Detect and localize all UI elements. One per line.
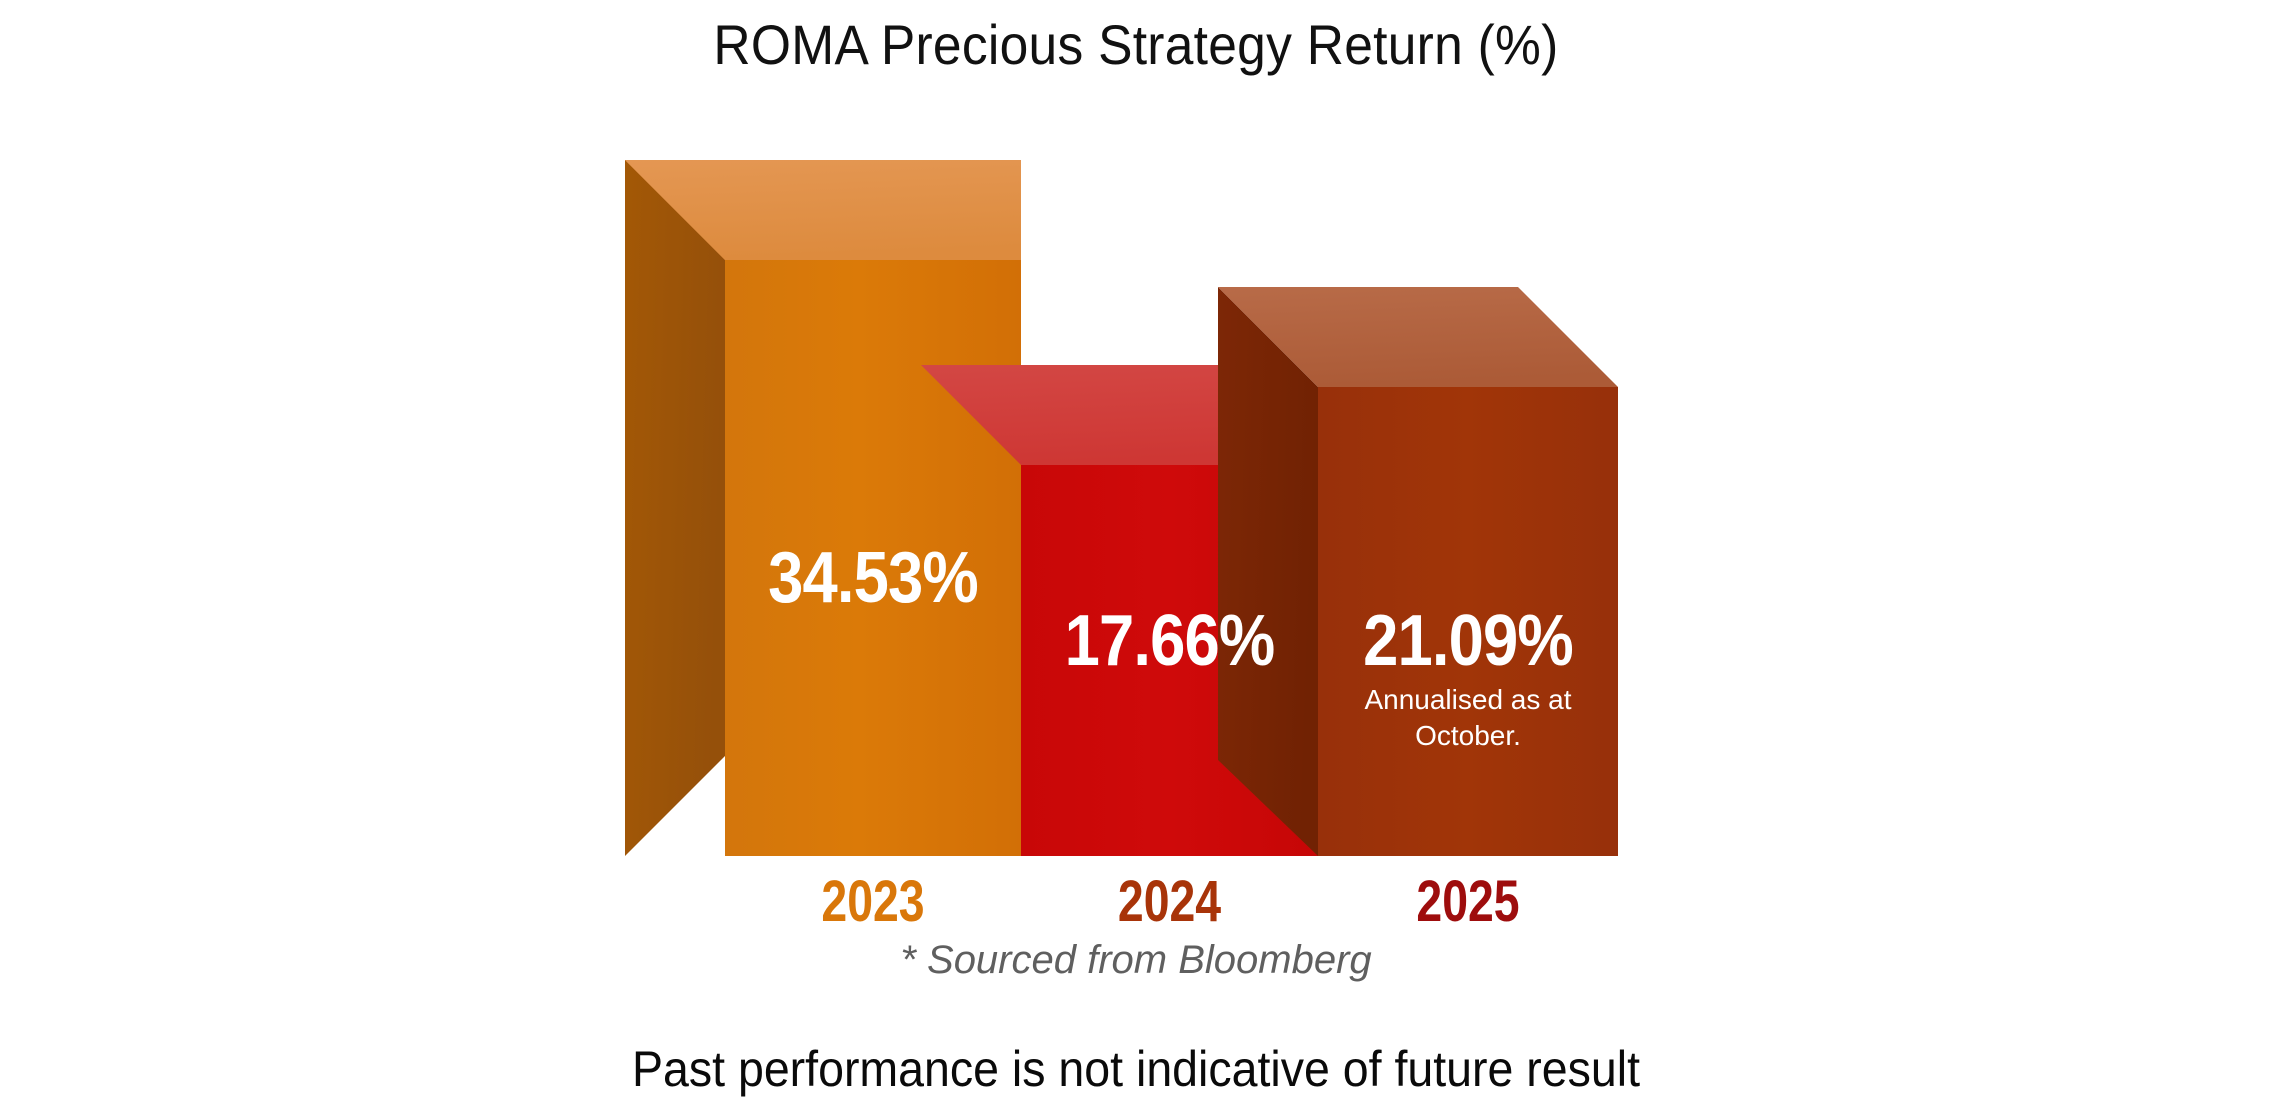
source-note: * Sourced from Bloomberg	[0, 938, 2272, 983]
bar-2025[interactable]	[1218, 287, 1618, 856]
category-label-2023: 2023	[755, 868, 992, 935]
bar-2025-top-face	[1218, 287, 1618, 387]
bar-2023[interactable]	[625, 160, 1021, 856]
page-title: ROMA Precious Strategy Return (%)	[91, 12, 2181, 77]
bar-2025-side	[1218, 287, 1318, 856]
category-label-2024: 2024	[1051, 868, 1289, 935]
bar-2024-top-face	[921, 365, 1318, 465]
bar-value-2023: 34.53%	[743, 537, 1003, 619]
bar-value-2024: 17.66%	[1039, 600, 1300, 682]
category-label-2025: 2025	[1348, 868, 1588, 935]
disclaimer-text: Past performance is not indicative of fu…	[80, 1040, 2193, 1098]
bar-2023-side	[625, 160, 725, 856]
bar-2023-top-face	[625, 160, 1021, 260]
bar-value-2025: 21.09%	[1336, 600, 1600, 682]
bar-annotation-2025: Annualised as at October.	[1348, 682, 1588, 754]
bar-2023-top	[625, 160, 1021, 260]
